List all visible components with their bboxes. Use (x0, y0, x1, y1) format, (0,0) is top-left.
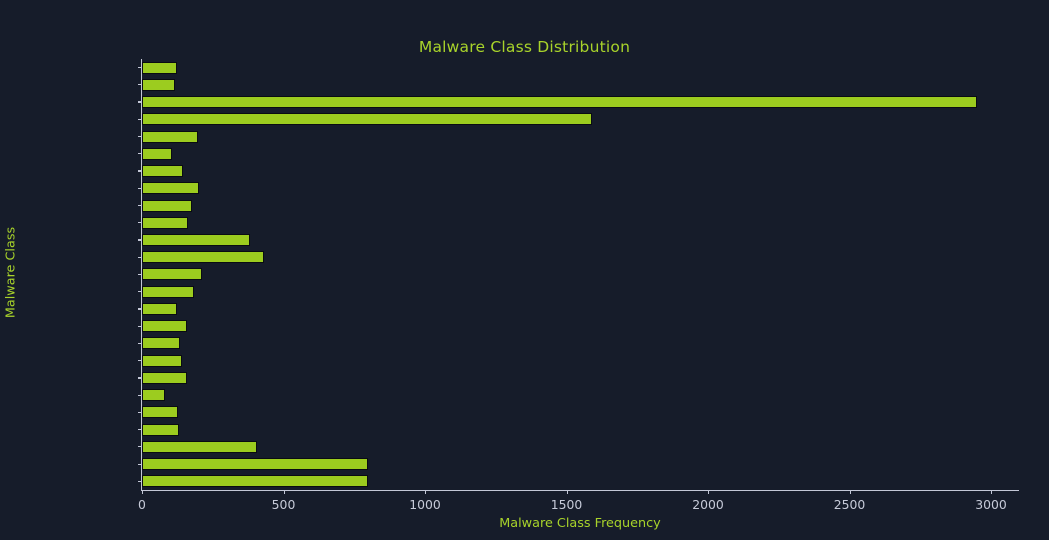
plot-area: Adialer.CAgent.FYIAllaple.AAllaple.LAlue… (142, 59, 1019, 490)
bar-row: Lolyda.AA2 (142, 283, 1019, 300)
bar-row: Lolyda.AA3 (142, 300, 1019, 317)
bar (142, 389, 165, 401)
bar-row: Alueron.gen!J (142, 128, 1019, 145)
bar (142, 217, 188, 229)
x-axis-spine (141, 490, 1019, 491)
y-axis-tick-mark (138, 412, 142, 413)
bar-row: Allaple.A (142, 93, 1019, 110)
bar (142, 113, 592, 125)
y-axis-tick-mark (138, 326, 142, 327)
bar (142, 355, 182, 367)
y-axis-tick-mark (138, 84, 142, 85)
bar-row: Rbot!gen (142, 369, 1019, 386)
y-axis-tick-mark (138, 136, 142, 137)
bar (142, 303, 177, 315)
bar (142, 268, 202, 280)
x-axis-tick-mark (142, 490, 143, 494)
y-axis-tick-mark (138, 429, 142, 430)
bar-row: Skintrim.N (142, 387, 1019, 404)
bar-row: C2LOP.P (142, 162, 1019, 179)
y-axis-tick-mark (138, 101, 142, 102)
bar (142, 424, 179, 436)
x-axis-tick-mark (991, 490, 992, 494)
bar (142, 251, 264, 263)
y-axis-tick-mark (138, 222, 142, 223)
bar-row: VB.AT (142, 438, 1019, 455)
y-axis-tick-mark (138, 360, 142, 361)
bar-row: Swizzor.gen!I (142, 421, 1019, 438)
y-axis-tick-mark (138, 343, 142, 344)
x-axis-tick-mark (850, 490, 851, 494)
y-axis-tick-mark (138, 274, 142, 275)
y-axis-tick-mark (138, 481, 142, 482)
y-axis-label-text: Malware Class (4, 188, 19, 358)
bar-row: Fakerean (142, 231, 1019, 248)
bar (142, 286, 194, 298)
y-axis-tick-mark (138, 257, 142, 258)
bar-row: Lolyda.AA1 (142, 266, 1019, 283)
y-axis-tick-mark (138, 119, 142, 120)
bar-row: Obfuscator.AD (142, 352, 1019, 369)
bar (142, 234, 250, 246)
y-axis-tick-mark (138, 205, 142, 206)
bar (142, 458, 368, 470)
y-axis-tick-mark (138, 446, 142, 447)
bar-row: Autorun.K (142, 145, 1019, 162)
bar-row: Dontovo.A (142, 214, 1019, 231)
bar (142, 441, 257, 453)
bar-row: Instantaccess (142, 249, 1019, 266)
x-axis-tick-mark (567, 490, 568, 494)
y-axis-tick-mark (138, 239, 142, 240)
chart-title: Malware Class Distribution (0, 38, 1049, 56)
y-axis-tick-mark (138, 308, 142, 309)
y-axis-tick-mark (138, 188, 142, 189)
bar (142, 182, 199, 194)
y-axis-tick-mark (138, 291, 142, 292)
bar-row: C2LOP.gen!g (142, 180, 1019, 197)
y-axis-label: Malware Class (2, 188, 20, 358)
bar (142, 79, 175, 91)
bar (142, 337, 180, 349)
bar (142, 320, 187, 332)
x-axis-tick-label: 2000 (692, 497, 724, 512)
x-axis-tick-mark (284, 490, 285, 494)
x-axis-tick-label: 0 (138, 497, 146, 512)
bar (142, 165, 183, 177)
bar-row: Yuner.A (142, 473, 1019, 490)
bar-row: Malex.gen!J (142, 335, 1019, 352)
y-axis-tick-mark (138, 153, 142, 154)
x-axis-label: Malware Class Frequency (141, 516, 1019, 531)
bar (142, 475, 368, 487)
bar-row: Lolyda.AT (142, 318, 1019, 335)
bar (142, 131, 198, 143)
bar (142, 148, 172, 160)
bar-row: Agent.FYI (142, 76, 1019, 93)
bar-row: Adialer.C (142, 59, 1019, 76)
y-axis-tick-mark (138, 67, 142, 68)
bar (142, 96, 977, 108)
bar-row: Wintrim.BX (142, 456, 1019, 473)
y-axis-tick-mark (138, 377, 142, 378)
bar-row: Allaple.L (142, 111, 1019, 128)
bar (142, 62, 177, 74)
x-axis-tick-label: 1500 (551, 497, 583, 512)
y-axis-tick-mark (138, 395, 142, 396)
x-axis-tick-mark (425, 490, 426, 494)
bar (142, 372, 187, 384)
bar-row: Dialplatform.B (142, 197, 1019, 214)
y-axis-tick-mark (138, 170, 142, 171)
bar (142, 200, 192, 212)
x-axis-tick-mark (708, 490, 709, 494)
x-axis-tick-label: 2500 (834, 497, 866, 512)
chart-figure: Malware Class Distribution Adialer.CAgen… (0, 0, 1049, 540)
x-axis-tick-label: 3000 (975, 497, 1007, 512)
bar (142, 406, 178, 418)
y-axis-tick-mark (138, 464, 142, 465)
x-axis-tick-label: 1000 (409, 497, 441, 512)
bar-row: Swizzor.gen!E (142, 404, 1019, 421)
x-axis-tick-label: 500 (272, 497, 296, 512)
